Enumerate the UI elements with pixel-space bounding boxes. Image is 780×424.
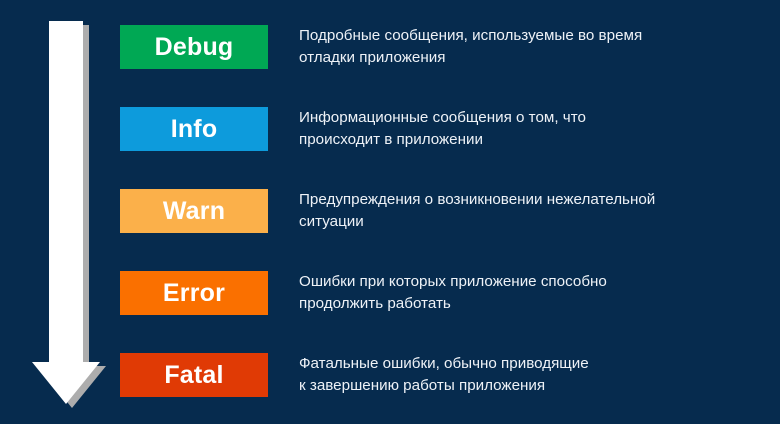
level-badge-fatal[interactable]: Fatal — [120, 353, 268, 397]
level-badge-debug[interactable]: Debug — [120, 25, 268, 69]
level-badge-error[interactable]: Error — [120, 271, 268, 315]
level-description-debug: Подробные сообщения, используемые во вре… — [299, 25, 769, 69]
arrow-body-icon — [32, 21, 100, 404]
log-level-row-info: Info Информационные сообщения о том, что… — [120, 107, 780, 151]
level-description-warn: Предупреждения о возникновении нежелател… — [299, 189, 769, 233]
log-level-row-error: Error Ошибки при которых приложение спос… — [120, 271, 780, 315]
level-description-error: Ошибки при которых приложение способно п… — [299, 271, 769, 315]
level-description-fatal: Фатальные ошибки, обычно приводящие к за… — [299, 353, 769, 397]
log-level-row-fatal: Fatal Фатальные ошибки, обычно приводящи… — [120, 353, 780, 397]
log-level-row-warn: Warn Предупреждения о возникновении неже… — [120, 189, 780, 233]
severity-direction-arrow — [22, 12, 118, 412]
level-description-info: Информационные сообщения о том, что прои… — [299, 107, 769, 151]
log-level-row-debug: Debug Подробные сообщения, используемые … — [120, 25, 780, 69]
level-badge-warn[interactable]: Warn — [120, 189, 268, 233]
level-badge-info[interactable]: Info — [120, 107, 268, 151]
log-levels-slide: Debug Подробные сообщения, используемые … — [0, 0, 780, 424]
